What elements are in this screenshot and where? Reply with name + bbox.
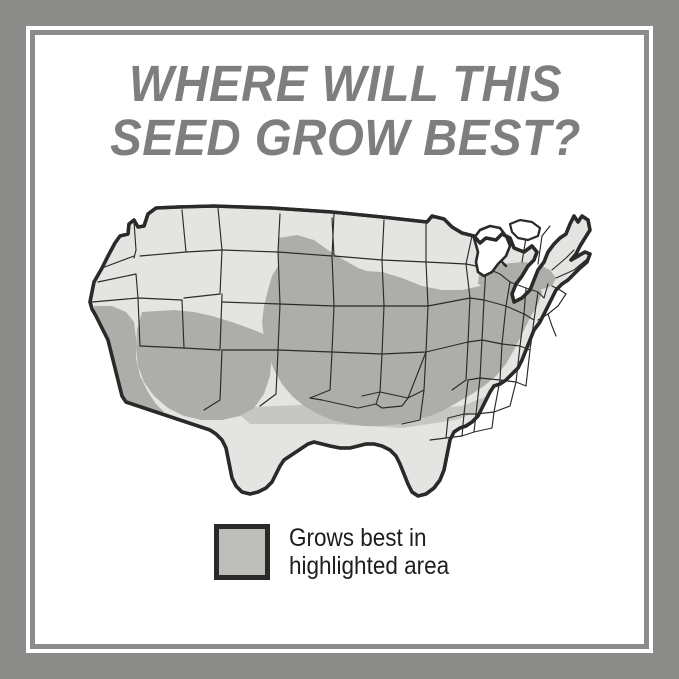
page-title: WHERE WILL THIS SEED GROW BEST? bbox=[35, 58, 650, 163]
united-states-map bbox=[82, 194, 602, 506]
legend-swatch bbox=[214, 524, 270, 580]
legend-label-line-1: Grows best in bbox=[289, 524, 449, 552]
poster-root: WHERE WILL THIS SEED GROW BEST? bbox=[0, 0, 679, 679]
legend-label-line-2: highlighted area bbox=[289, 552, 449, 580]
title-line-2: SEED GROW BEST? bbox=[62, 112, 628, 163]
title-line-1: WHERE WILL THIS bbox=[62, 58, 628, 109]
map-legend: Grows best in highlighted area bbox=[214, 524, 467, 580]
legend-label: Grows best in highlighted area bbox=[289, 524, 449, 580]
